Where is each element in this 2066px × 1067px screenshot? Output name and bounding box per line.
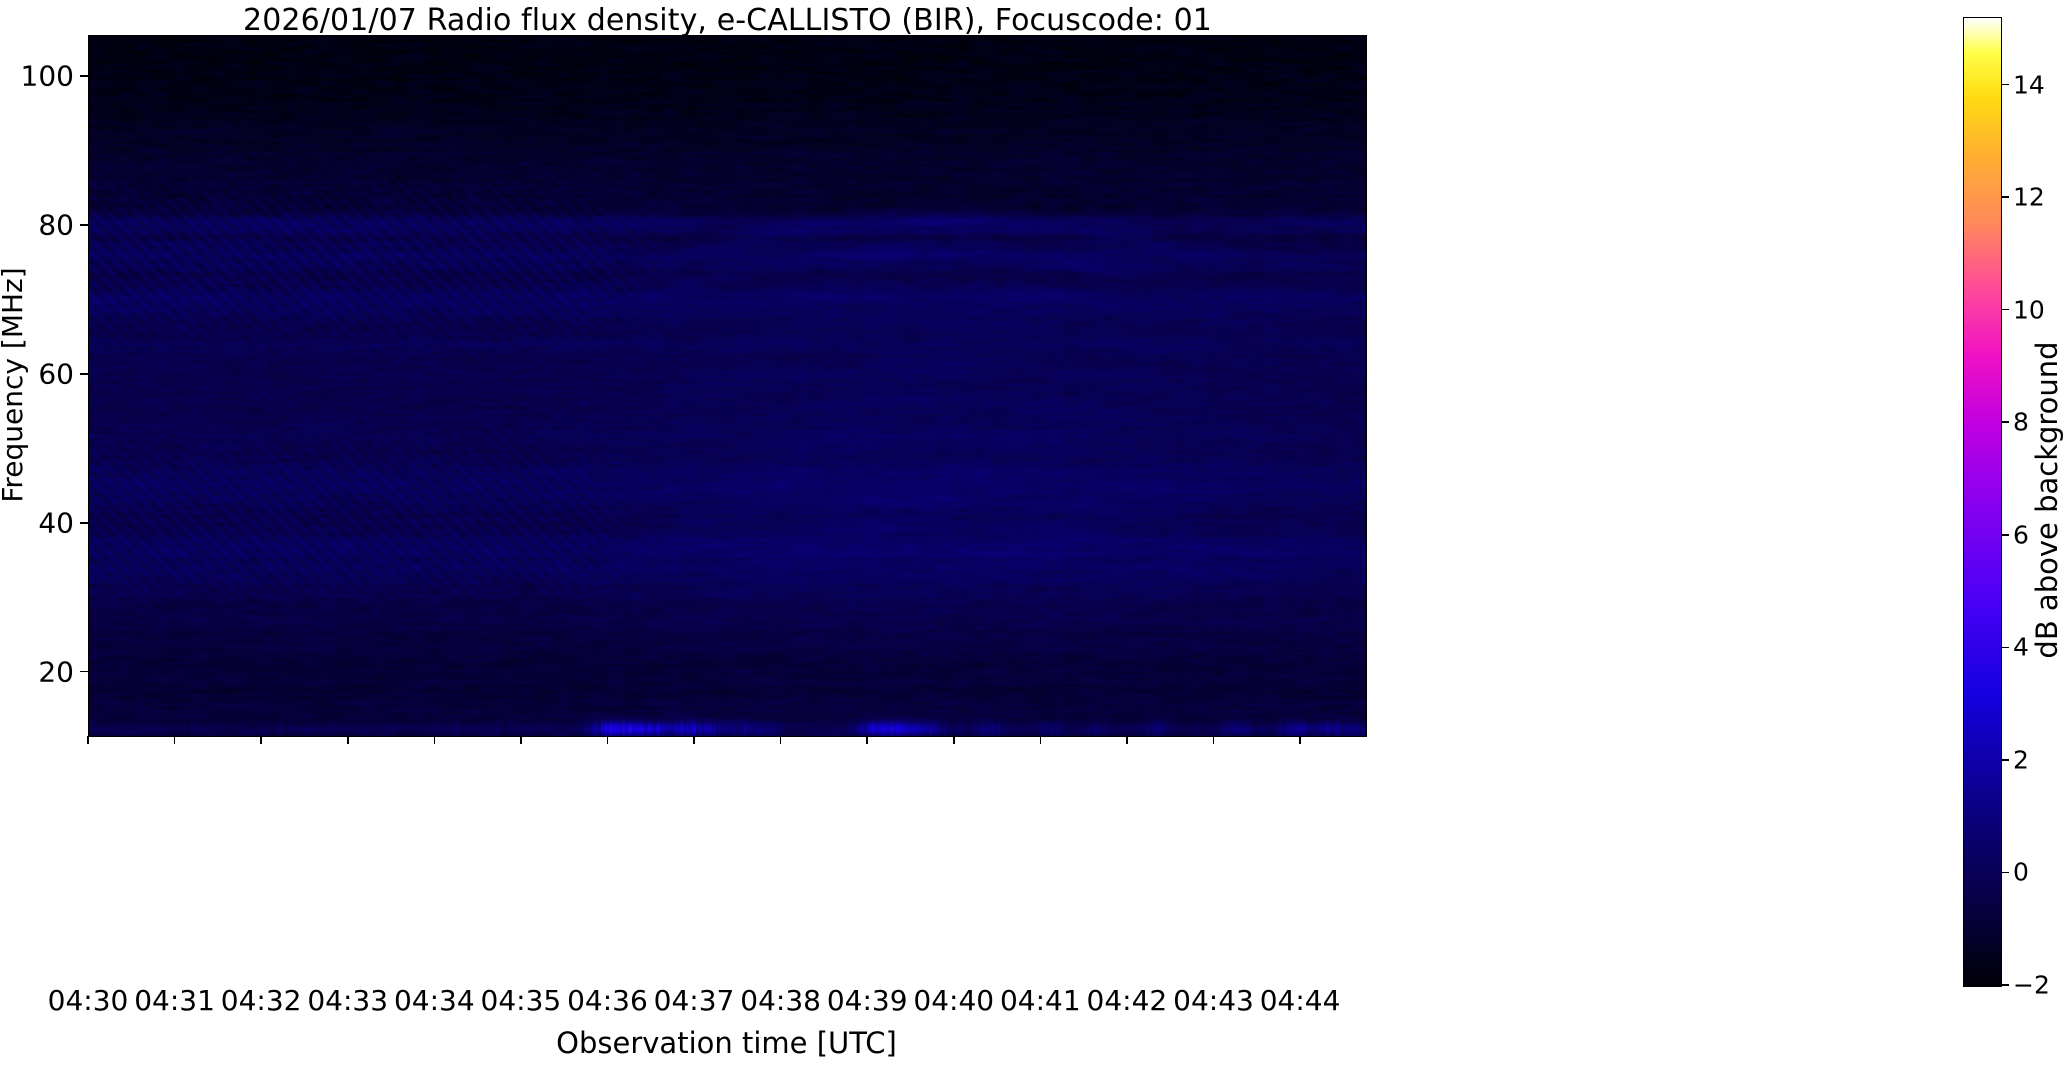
x-tick-label-04-44: 04:44 bbox=[1260, 984, 1341, 1017]
colorbar-tick-mark bbox=[2001, 759, 2009, 761]
colorbar-tick-mark bbox=[2001, 84, 2009, 86]
colorbar[interactable] bbox=[1963, 17, 2002, 987]
x-tick-mark bbox=[434, 736, 436, 744]
x-tick-mark bbox=[347, 736, 349, 744]
x-tick-label-04-32: 04:32 bbox=[221, 984, 302, 1017]
x-tick-label-04-37: 04:37 bbox=[654, 984, 735, 1017]
colorbar-gradient bbox=[1964, 18, 2001, 986]
colorbar-tick-mark bbox=[2001, 872, 2009, 874]
x-tick-label-04-40: 04:40 bbox=[913, 984, 994, 1017]
x-tick-mark bbox=[693, 736, 695, 744]
y-tick-label-60: 60 bbox=[38, 357, 74, 390]
y-axis-label: Frequency [MHz] bbox=[0, 267, 29, 502]
figure-canvas: 2026/01/07 Radio flux density, e-CALLIST… bbox=[0, 0, 2066, 1067]
colorbar-tick-mark bbox=[2001, 309, 2009, 311]
colorbar-tick-label: −2 bbox=[2013, 971, 2050, 1000]
colorbar-tick-label: 10 bbox=[2013, 295, 2045, 324]
x-tick-mark bbox=[1299, 736, 1301, 744]
x-tick-label-04-38: 04:38 bbox=[740, 984, 821, 1017]
x-tick-label-04-36: 04:36 bbox=[567, 984, 648, 1017]
colorbar-tick-mark bbox=[2001, 984, 2009, 986]
colorbar-tick-label: 8 bbox=[2013, 408, 2029, 437]
x-tick-mark bbox=[780, 736, 782, 744]
x-tick-mark bbox=[87, 736, 89, 744]
colorbar-tick-mark bbox=[2001, 421, 2009, 423]
x-tick-mark bbox=[1213, 736, 1215, 744]
x-tick-label-04-34: 04:34 bbox=[394, 984, 475, 1017]
y-tick-label-40: 40 bbox=[38, 506, 74, 539]
colorbar-tick-mark bbox=[2001, 534, 2009, 536]
x-tick-mark bbox=[1040, 736, 1042, 744]
x-tick-mark bbox=[260, 736, 262, 744]
x-tick-mark bbox=[1126, 736, 1128, 744]
x-tick-mark bbox=[520, 736, 522, 744]
colorbar-tick-label: 0 bbox=[2013, 858, 2029, 887]
x-tick-label-04-33: 04:33 bbox=[307, 984, 388, 1017]
x-tick-mark bbox=[953, 736, 955, 744]
y-tick-mark bbox=[80, 224, 88, 226]
colorbar-tick-mark bbox=[2001, 196, 2009, 198]
x-tick-label-04-43: 04:43 bbox=[1173, 984, 1254, 1017]
colorbar-tick-label: 12 bbox=[2013, 183, 2045, 212]
x-tick-label-04-42: 04:42 bbox=[1087, 984, 1168, 1017]
page-title: 2026/01/07 Radio flux density, e-CALLIST… bbox=[0, 3, 1455, 38]
colorbar-tick-label: 2 bbox=[2013, 745, 2029, 774]
colorbar-tick-label: 14 bbox=[2013, 70, 2045, 99]
colorbar-tick-label: 6 bbox=[2013, 520, 2029, 549]
y-tick-label-80: 80 bbox=[38, 208, 74, 241]
y-tick-mark bbox=[80, 522, 88, 524]
x-tick-mark bbox=[174, 736, 176, 744]
x-tick-label-04-35: 04:35 bbox=[481, 984, 562, 1017]
x-tick-mark bbox=[607, 736, 609, 744]
x-tick-mark bbox=[866, 736, 868, 744]
colorbar-label: dB above background bbox=[2030, 341, 2064, 658]
colorbar-tick-label: 4 bbox=[2013, 633, 2029, 662]
y-tick-label-100: 100 bbox=[21, 59, 74, 92]
y-tick-label-20: 20 bbox=[38, 655, 74, 688]
spectrogram-axes[interactable] bbox=[88, 35, 1367, 737]
y-tick-mark bbox=[80, 75, 88, 77]
colorbar-tick-mark bbox=[2001, 647, 2009, 649]
x-tick-label-04-30: 04:30 bbox=[48, 984, 129, 1017]
x-axis-label: Observation time [UTC] bbox=[88, 1026, 1365, 1060]
y-tick-mark bbox=[80, 671, 88, 673]
x-tick-label-04-39: 04:39 bbox=[827, 984, 908, 1017]
x-tick-label-04-31: 04:31 bbox=[134, 984, 215, 1017]
y-tick-mark bbox=[80, 373, 88, 375]
spectrogram-image bbox=[89, 36, 1366, 736]
x-tick-label-04-41: 04:41 bbox=[1000, 984, 1081, 1017]
